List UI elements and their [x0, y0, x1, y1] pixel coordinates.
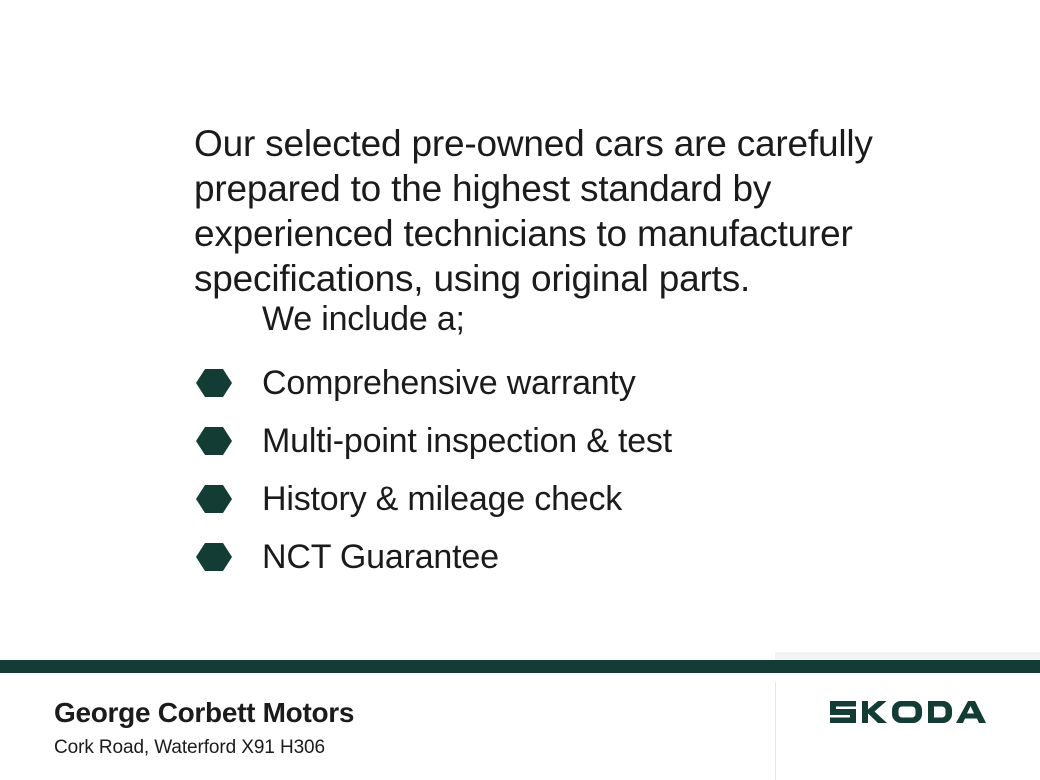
list-item: Multi-point inspection & test — [196, 412, 896, 470]
list-item: Comprehensive warranty — [196, 354, 896, 412]
list-item-label: History & mileage check — [262, 479, 622, 519]
slide-root: Our selected pre-owned cars are carefull… — [0, 0, 1040, 780]
benefits-list: Comprehensive warranty Multi-point inspe… — [196, 354, 896, 586]
list-item: History & mileage check — [196, 470, 896, 528]
list-item-label: Multi-point inspection & test — [262, 421, 672, 461]
hexagon-bullet-icon — [196, 483, 232, 515]
hexagon-bullet-icon — [196, 541, 232, 573]
intro-paragraph: Our selected pre-owned cars are carefull… — [194, 121, 884, 301]
list-item: NCT Guarantee — [196, 528, 896, 586]
include-block: We include a; Comprehensive warranty Mul… — [196, 298, 896, 586]
hexagon-bullet-icon — [196, 425, 232, 457]
list-item-label: NCT Guarantee — [262, 537, 499, 577]
footer-brand-bar — [0, 660, 1040, 673]
dealer-name: George Corbett Motors — [54, 696, 354, 730]
footer-divider — [775, 682, 776, 780]
include-lead-text: We include a; — [262, 298, 896, 340]
skoda-wordmark-logo — [830, 697, 986, 727]
hexagon-bullet-icon — [196, 367, 232, 399]
dealer-info: George Corbett Motors Cork Road, Waterfo… — [54, 696, 354, 760]
list-item-label: Comprehensive warranty — [262, 363, 636, 403]
dealer-address: Cork Road, Waterford X91 H306 — [54, 736, 354, 760]
